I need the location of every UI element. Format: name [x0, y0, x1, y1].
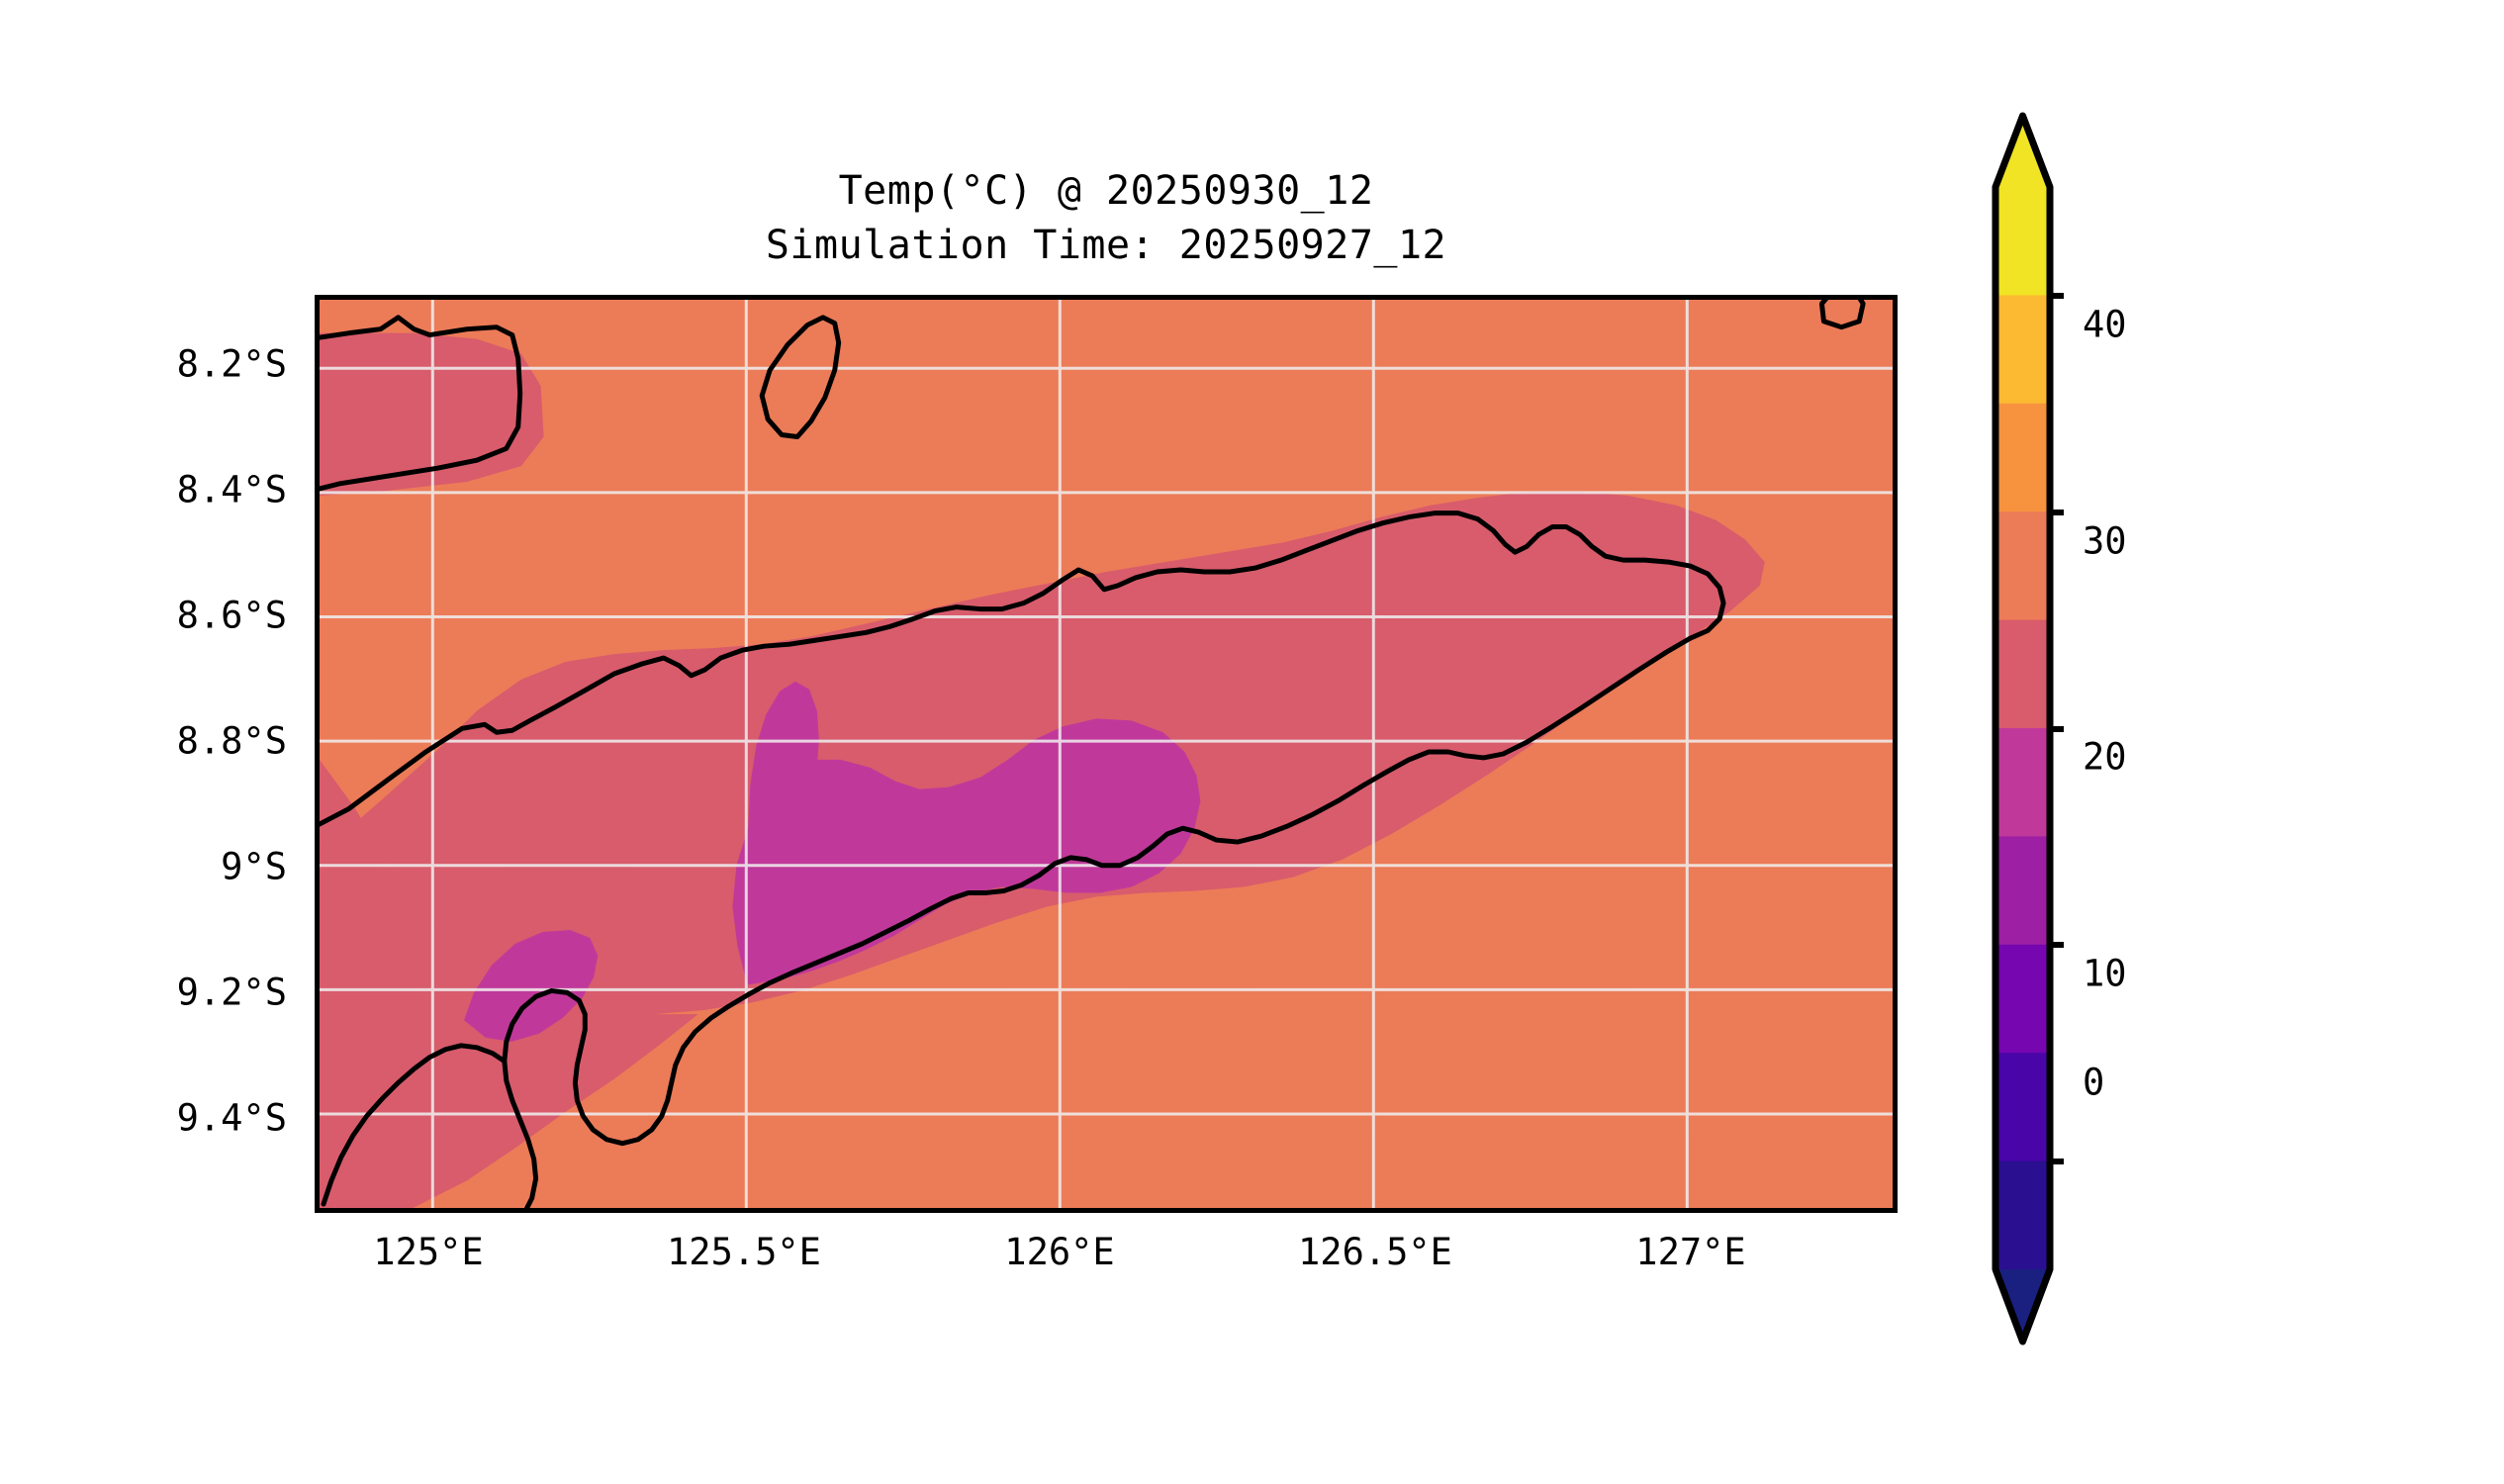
- x-tick-label-1: 125.5°E: [667, 1231, 821, 1273]
- x-tick-label-0: 125°E: [373, 1231, 483, 1273]
- colorbar-bands: [1995, 187, 2050, 1270]
- colorbar-tick-label-4: 40: [2083, 304, 2127, 346]
- colorbar-band-5: [1995, 728, 2050, 837]
- colorbar-band-9: [1995, 1161, 2050, 1270]
- chart-title: Temp(°C) @ 20250930_12 Simulation Time: …: [315, 164, 1898, 273]
- colorbar-band-3: [1995, 511, 2050, 620]
- y-tick-label-4: 9°S: [109, 846, 287, 888]
- colorbar-band-8: [1995, 1053, 2050, 1161]
- colorbar-tick-label-3: 30: [2083, 520, 2127, 563]
- title-line-1: Temp(°C) @ 20250930_12: [315, 164, 1898, 219]
- figure: Temp(°C) @ 20250930_12 Simulation Time: …: [0, 0, 2504, 1484]
- y-tick-label-3: 8.8°S: [109, 720, 287, 763]
- x-tick-label-2: 126°E: [1004, 1231, 1114, 1273]
- colorbar-tick-label-1: 10: [2083, 953, 2127, 995]
- x-tick-label-3: 126.5°E: [1298, 1231, 1452, 1273]
- colorbar-band-0: [1995, 187, 2050, 296]
- map-contour-plot: [320, 300, 1893, 1208]
- colorbar-band-4: [1995, 620, 2050, 729]
- y-tick-label-2: 8.6°S: [109, 595, 287, 637]
- colorbar-gradient: [1982, 108, 2064, 1349]
- colorbar-under-arrow: [1995, 1269, 2050, 1342]
- y-tick-label-6: 9.4°S: [109, 1097, 287, 1140]
- colorbar-tick-label-0: 0: [2083, 1062, 2104, 1104]
- colorbar-band-6: [1995, 836, 2050, 945]
- y-tick-label-1: 8.4°S: [109, 469, 287, 511]
- colorbar-over-arrow: [1995, 116, 2050, 187]
- y-tick-label-0: 8.2°S: [109, 343, 287, 386]
- title-line-2: Simulation Time: 20250927_12: [315, 219, 1898, 273]
- colorbar-band-1: [1995, 295, 2050, 404]
- y-tick-label-5: 9.2°S: [109, 972, 287, 1014]
- x-tick-label-4: 127°E: [1635, 1231, 1745, 1273]
- colorbar-band-2: [1995, 404, 2050, 512]
- colorbar[interactable]: [1995, 187, 2050, 1269]
- map-axes[interactable]: [315, 295, 1898, 1213]
- colorbar-tick-label-2: 20: [2083, 736, 2127, 779]
- colorbar-band-7: [1995, 945, 2050, 1054]
